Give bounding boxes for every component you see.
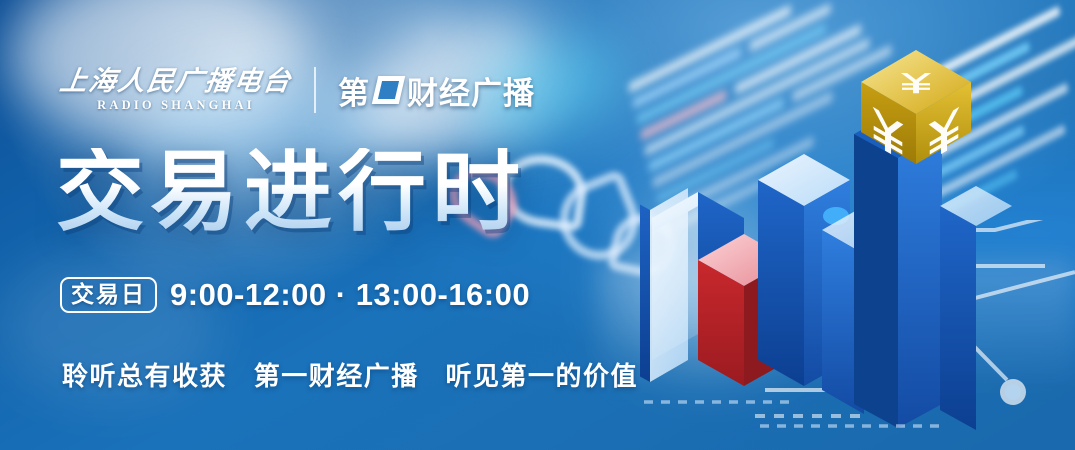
program-title: 交易进行时 [56,148,526,236]
logo-divider [314,67,316,113]
station-logo-english: RADIO SHANGHAI [60,98,292,113]
chart-bar-right [940,186,1012,430]
channel-logo-prefix: 第 [338,68,370,113]
channel-logo-suffix: 财经广播 [407,68,535,113]
bar-chart-illustration [640,30,1040,450]
tagline-part-3: 听见第一的价值 [446,361,639,391]
station-logo-chinese: 上海人民广播电台 [58,67,294,95]
tagline-part-2: 第一财经广播 [254,361,419,391]
station-logo: 上海人民广播电台 RADIO SHANGHAI [60,67,292,113]
channel-logo: 第 财经广播 [338,68,535,113]
broadcast-hours: 9:00-12:00 · 13:00-16:00 [170,277,530,313]
yi-block-mark-icon [372,76,405,104]
logo-row: 上海人民广播电台 RADIO SHANGHAI 第 财经广播 [60,62,535,118]
trading-day-badge: 交易日 [60,277,157,312]
radio-program-banner: 上海人民广播电台 RADIO SHANGHAI 第 财经广播 交易进行时 交易日… [0,0,1075,450]
tagline: 聆听总有收获 第一财经广播 听见第一的价值 [62,356,638,393]
gold-yuan-cube-icon [851,42,981,172]
tagline-part-1: 聆听总有收获 [62,361,227,391]
schedule-row: 交易日 9:00-12:00 · 13:00-16:00 [60,277,530,313]
